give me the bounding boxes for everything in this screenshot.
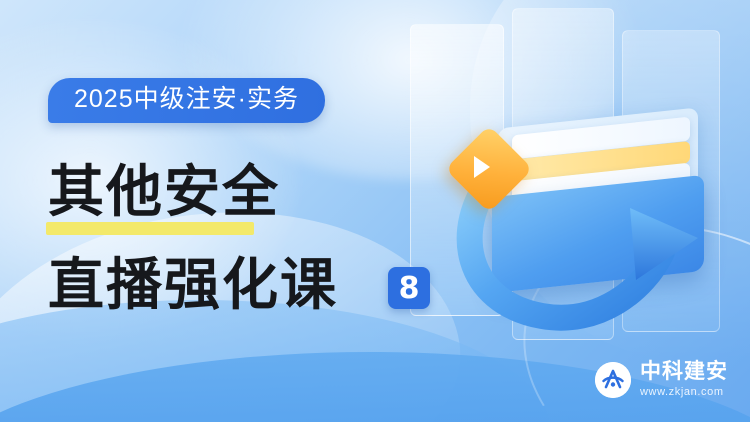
curved-arrow-group [430, 120, 730, 340]
episode-number-badge: 8 [388, 267, 430, 309]
course-title-line-1: 其他安全 [48, 165, 280, 221]
course-poster: 2025中级注安·实务 其他安全 直播强化课 8 中科建安 www.zkjan.… [0, 0, 750, 422]
brand-website: www.zkjan.com [640, 387, 728, 398]
brand-logo: 中科建安 www.zkjan.com [595, 361, 728, 398]
course-category-tag: 2025中级注安·实务 [48, 78, 325, 123]
brand-text-block: 中科建安 www.zkjan.com [640, 361, 728, 398]
brand-name: 中科建安 [640, 361, 728, 382]
course-title-line-2: 直播强化课 [48, 258, 338, 314]
play-triangle-icon [474, 156, 490, 178]
brand-mark-icon [595, 362, 631, 398]
